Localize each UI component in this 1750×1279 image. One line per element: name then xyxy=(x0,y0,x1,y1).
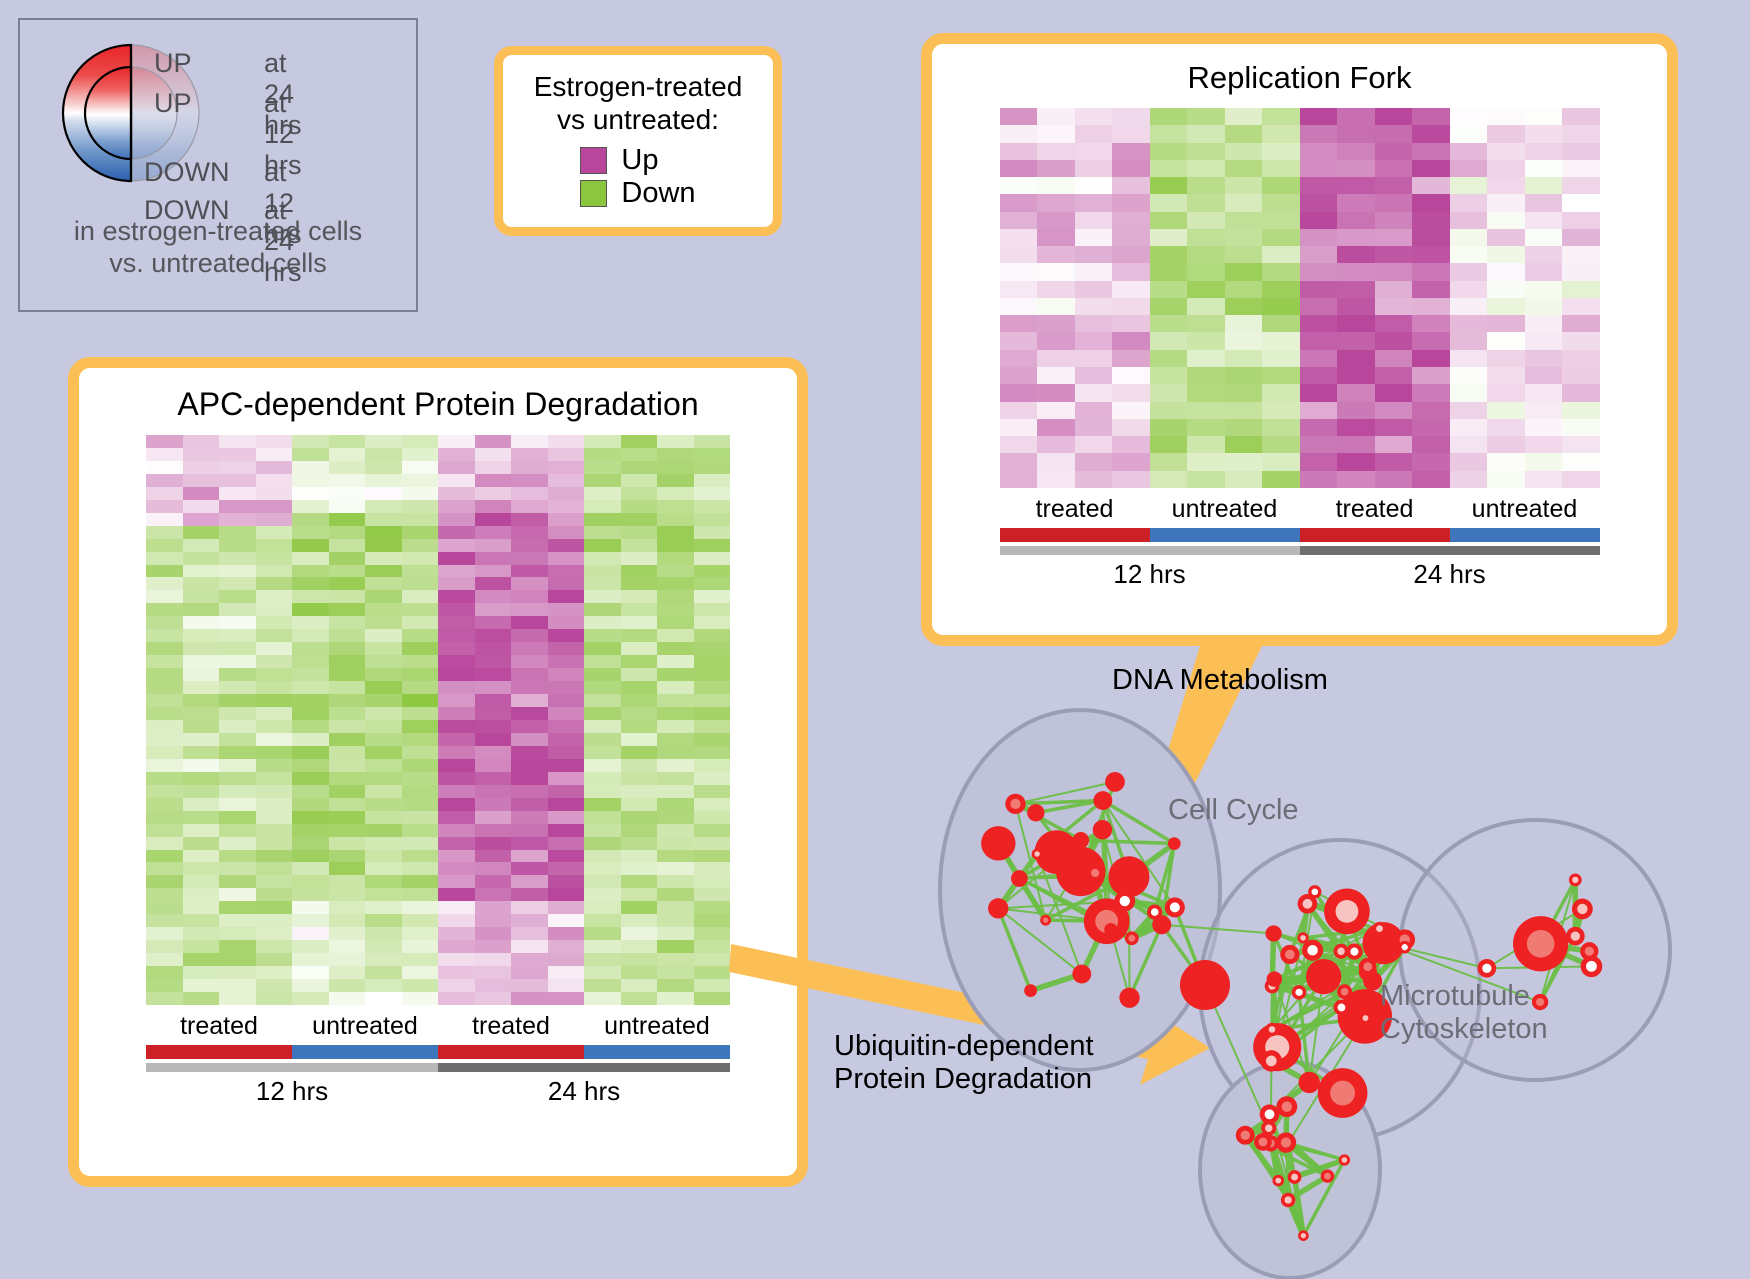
heatmap-cell xyxy=(146,953,183,966)
heatmap-cell xyxy=(438,720,475,733)
heatmap-cell xyxy=(1450,402,1488,419)
network-node[interactable] xyxy=(1104,923,1117,936)
condition-segment xyxy=(584,1045,730,1059)
network-node[interactable] xyxy=(1478,959,1497,978)
heatmap-cell xyxy=(1187,229,1225,246)
heatmap-cell xyxy=(1300,315,1338,332)
network-node[interactable] xyxy=(1359,958,1377,976)
heatmap-cell xyxy=(365,785,402,798)
heatmap-cell xyxy=(1112,315,1150,332)
network-node[interactable] xyxy=(1011,870,1028,887)
heatmap-cell xyxy=(256,824,293,837)
heatmap-cell xyxy=(329,746,366,759)
heatmap-cell xyxy=(292,979,329,992)
heatmap-cell xyxy=(146,888,183,901)
heatmap-cell xyxy=(584,798,621,811)
heatmap-cell xyxy=(1487,315,1525,332)
network-node[interactable] xyxy=(1373,922,1387,936)
heatmap-cell xyxy=(1300,263,1338,280)
network-node[interactable] xyxy=(1292,985,1306,999)
heatmap-cell xyxy=(365,811,402,824)
heatmap-cell xyxy=(548,616,585,629)
heatmap-cell xyxy=(292,565,329,578)
heatmap-cell xyxy=(402,914,439,927)
heatmap-cell xyxy=(657,435,694,448)
network-node[interactable] xyxy=(1265,1023,1278,1036)
heatmap-cell xyxy=(1412,246,1450,263)
heatmap-cell xyxy=(1112,246,1150,263)
network-node[interactable] xyxy=(1265,925,1281,941)
heatmap-cell xyxy=(183,837,220,850)
heatmap-cell xyxy=(256,526,293,539)
network-node[interactable] xyxy=(1147,904,1162,919)
heatmap-cell xyxy=(1450,108,1488,125)
heatmap-cell xyxy=(402,565,439,578)
heatmap-cell xyxy=(475,552,512,565)
cluster-label-ubiquitin-degradation: Ubiquitin-dependent Protein Degradation xyxy=(834,1030,1094,1097)
heatmap-cell xyxy=(1450,160,1488,177)
heatmap-cell xyxy=(584,616,621,629)
heatmap-cell xyxy=(292,824,329,837)
heatmap-cell xyxy=(621,474,658,487)
heatmap-cell xyxy=(329,552,366,565)
heatmap-cell xyxy=(621,655,658,668)
node-inner-fill xyxy=(1120,896,1130,906)
heatmap-cell xyxy=(584,927,621,940)
heatmap-cell xyxy=(1037,315,1075,332)
heatmap-cell xyxy=(475,616,512,629)
time-group-label: 24 hrs xyxy=(1300,559,1600,590)
network-node[interactable] xyxy=(1572,899,1593,920)
heatmap-cell xyxy=(584,785,621,798)
heatmap-cell xyxy=(183,733,220,746)
network-node[interactable] xyxy=(1093,791,1112,810)
heatmap-cell xyxy=(183,914,220,927)
heatmap-cell xyxy=(402,642,439,655)
heatmap-cell xyxy=(1262,332,1300,349)
heatmap-cell xyxy=(548,448,585,461)
heatmap-cell xyxy=(402,500,439,513)
heatmap-cell xyxy=(402,694,439,707)
heatmap-cell xyxy=(694,539,731,552)
heatmap-cell xyxy=(183,759,220,772)
network-node[interactable] xyxy=(1180,960,1230,1010)
heatmap-cell xyxy=(1037,246,1075,263)
heatmap-cell xyxy=(183,694,220,707)
heatmap-cell xyxy=(548,694,585,707)
node-outer-ring xyxy=(1093,820,1112,839)
heatmap-cell xyxy=(694,616,731,629)
heatmap-cell xyxy=(146,785,183,798)
heatmap-cell xyxy=(657,953,694,966)
heatmap-cell xyxy=(1187,471,1225,488)
network-node[interactable] xyxy=(1298,894,1318,914)
heatmap-cell xyxy=(219,953,256,966)
heatmap-cell xyxy=(438,526,475,539)
heatmap-cell xyxy=(365,500,402,513)
network-node[interactable] xyxy=(1105,772,1125,792)
heatmap-cell xyxy=(1187,384,1225,401)
condition-segment xyxy=(1000,528,1150,542)
heatmap-cell xyxy=(365,720,402,733)
heatmap-cell xyxy=(1300,212,1338,229)
heatmap-cell xyxy=(584,707,621,720)
heatmap-cell xyxy=(548,590,585,603)
heatmap-cell xyxy=(146,603,183,616)
heatmap-cell xyxy=(365,979,402,992)
heatmap-cell xyxy=(1525,471,1563,488)
heatmap-cell xyxy=(1225,419,1263,436)
heatmap-cell xyxy=(584,590,621,603)
network-node[interactable] xyxy=(1276,1132,1296,1152)
network-node[interactable] xyxy=(1398,941,1411,954)
network-node[interactable] xyxy=(1236,1126,1255,1145)
heatmap-cell xyxy=(1375,471,1413,488)
heatmap-cell xyxy=(256,940,293,953)
network-node[interactable] xyxy=(1119,988,1139,1008)
heatmap-cell xyxy=(1150,315,1188,332)
heatmap-cell xyxy=(1187,125,1225,142)
heatmap-cell xyxy=(183,927,220,940)
heatmap-cell xyxy=(694,590,731,603)
heatmap-cell xyxy=(292,513,329,526)
network-node[interactable] xyxy=(1324,889,1370,935)
heatmap-cell xyxy=(657,603,694,616)
network-node[interactable] xyxy=(1276,1096,1297,1117)
network-node[interactable] xyxy=(1566,927,1585,946)
network-node[interactable] xyxy=(1337,984,1352,999)
network-node[interactable] xyxy=(1360,1012,1372,1024)
heatmap-cell xyxy=(1562,350,1600,367)
heatmap-cell xyxy=(1450,263,1488,280)
heatmap-cell xyxy=(1450,367,1488,384)
network-node[interactable] xyxy=(1299,1072,1320,1093)
heatmap-cell xyxy=(365,668,402,681)
heatmap-cell xyxy=(1525,350,1563,367)
heatmap-cell xyxy=(219,837,256,850)
heatmap-cell xyxy=(402,577,439,590)
heatmap-cell xyxy=(1412,402,1450,419)
heatmap-cell xyxy=(438,940,475,953)
heatmap-cell xyxy=(1337,298,1375,315)
heatmap-cell xyxy=(1150,350,1188,367)
heatmap-cell xyxy=(548,953,585,966)
heatmap-cell xyxy=(183,448,220,461)
heatmap-cell xyxy=(511,901,548,914)
heatmap-cell xyxy=(1450,332,1488,349)
network-node[interactable] xyxy=(1072,965,1091,984)
heatmap-cell xyxy=(621,811,658,824)
heatmap-cell xyxy=(621,888,658,901)
heatmap-cell xyxy=(402,927,439,940)
heatmap-cell xyxy=(548,888,585,901)
network-node[interactable] xyxy=(988,898,1008,918)
network-node[interactable] xyxy=(1168,837,1181,850)
heatmap-cell xyxy=(402,733,439,746)
heatmap-cell xyxy=(511,603,548,616)
heatmap-cell xyxy=(292,875,329,888)
heatmap-cell xyxy=(1525,108,1563,125)
heatmap-cell xyxy=(1375,246,1413,263)
heatmap-cell xyxy=(657,901,694,914)
network-node[interactable] xyxy=(1024,984,1037,997)
network-node[interactable] xyxy=(1165,897,1185,917)
heatmap-cell xyxy=(402,590,439,603)
heatmap-cell xyxy=(1075,246,1113,263)
heatmap-cell xyxy=(1412,471,1450,488)
network-node[interactable] xyxy=(1306,959,1341,994)
heatmap-cell xyxy=(511,940,548,953)
heatmap-cell xyxy=(657,655,694,668)
heatmap-cell xyxy=(1525,177,1563,194)
heatmap-cell xyxy=(657,539,694,552)
heatmap-cell xyxy=(475,746,512,759)
heatmap-cell xyxy=(1487,229,1525,246)
column-group-label: treated xyxy=(1300,495,1450,524)
heatmap-cell xyxy=(256,707,293,720)
heatmap-cell xyxy=(511,862,548,875)
heatmap-cell xyxy=(183,500,220,513)
heatmap-cell xyxy=(329,603,366,616)
heatmap-cell xyxy=(657,577,694,590)
heatmap-cell xyxy=(511,552,548,565)
heatmap-cell xyxy=(1187,160,1225,177)
node-inner-fill xyxy=(1281,1137,1291,1147)
network-node[interactable] xyxy=(981,826,1015,860)
heatmap-cell xyxy=(1300,229,1338,246)
heatmap-cell xyxy=(1337,160,1375,177)
heatmap-cell xyxy=(438,629,475,642)
heatmap-cell xyxy=(1000,125,1038,142)
heatmap-cell xyxy=(219,862,256,875)
heatmap-cell xyxy=(621,798,658,811)
heatmap-cell xyxy=(1037,125,1075,142)
heatmap-cell xyxy=(475,590,512,603)
heatmap-cell xyxy=(438,461,475,474)
heatmap-cell xyxy=(402,539,439,552)
up-label: Up xyxy=(621,146,658,175)
heatmap-cell xyxy=(1037,471,1075,488)
condition-bar-replication xyxy=(1000,528,1600,542)
heatmap-cell xyxy=(365,966,402,979)
heatmap-cell xyxy=(365,590,402,603)
heatmap-cell xyxy=(256,435,293,448)
heatmap-cell xyxy=(146,811,183,824)
heatmap-cell xyxy=(402,487,439,500)
node-inner-fill xyxy=(1402,944,1408,950)
heatmap-cell xyxy=(1150,453,1188,470)
heatmap-cell xyxy=(657,448,694,461)
heatmap-cell xyxy=(1525,384,1563,401)
network-node[interactable] xyxy=(1267,971,1283,987)
heatmap-cell xyxy=(402,474,439,487)
heatmap-cell xyxy=(365,824,402,837)
heatmap-cell xyxy=(1337,350,1375,367)
heatmap-cell xyxy=(1487,246,1525,263)
heatmap-cell xyxy=(584,642,621,655)
network-node[interactable] xyxy=(1339,1154,1350,1165)
heatmap-cell xyxy=(1450,229,1488,246)
column-labels-apc: treateduntreatedtreateduntreated xyxy=(146,1012,730,1041)
heatmap-cell xyxy=(1412,332,1450,349)
heatmap-cell xyxy=(365,694,402,707)
node-inner-fill xyxy=(1282,1101,1292,1111)
heatmap-cell xyxy=(657,798,694,811)
heatmap-cell xyxy=(694,785,731,798)
heatmap-cell xyxy=(475,811,512,824)
heatmap-cell xyxy=(256,875,293,888)
network-svg xyxy=(880,640,1750,1279)
heatmap-cell xyxy=(584,837,621,850)
heatmap-cell xyxy=(621,629,658,642)
heatmap-cell xyxy=(1375,160,1413,177)
heatmap-cell xyxy=(365,888,402,901)
heatmap-cell xyxy=(292,888,329,901)
network-node[interactable] xyxy=(1513,916,1568,971)
heatmap-cell xyxy=(438,616,475,629)
heatmap-cell xyxy=(657,707,694,720)
network-node[interactable] xyxy=(1254,1133,1272,1151)
heatmap-cell xyxy=(1000,350,1038,367)
network-node[interactable] xyxy=(1346,943,1362,959)
heatmap-cell xyxy=(292,577,329,590)
node-outer-ring xyxy=(1027,804,1044,821)
network-node[interactable] xyxy=(1297,932,1308,943)
heatmap-cell xyxy=(1337,453,1375,470)
heatmap-cell xyxy=(219,901,256,914)
heatmap-cell xyxy=(694,927,731,940)
network-node[interactable] xyxy=(1108,856,1149,897)
heatmap-cell xyxy=(438,668,475,681)
heatmap-cell xyxy=(1375,402,1413,419)
heatmap-cell xyxy=(329,940,366,953)
network-node[interactable] xyxy=(1318,1068,1368,1118)
heatmap-cell xyxy=(694,862,731,875)
heatmap-cell xyxy=(511,565,548,578)
heatmap-cell xyxy=(146,513,183,526)
heatmap-cell xyxy=(1375,298,1413,315)
heatmap-cell xyxy=(694,979,731,992)
heatmap-cell xyxy=(329,474,366,487)
heatmap-cell xyxy=(1262,212,1300,229)
network-node[interactable] xyxy=(1272,1175,1284,1187)
heatmap-cell xyxy=(146,901,183,914)
heatmap-cell xyxy=(1450,194,1488,211)
heatmap-cell xyxy=(1037,402,1075,419)
heatmap-cell xyxy=(1150,125,1188,142)
heatmap-cell xyxy=(475,888,512,901)
heatmap-cell xyxy=(548,681,585,694)
network-node[interactable] xyxy=(1032,848,1043,859)
network-node[interactable] xyxy=(1280,945,1299,964)
time-group-label: 12 hrs xyxy=(146,1076,438,1107)
condition-segment xyxy=(1300,528,1450,542)
heatmap-cell xyxy=(365,448,402,461)
heatmap-cell xyxy=(219,474,256,487)
heatmap-cell xyxy=(657,979,694,992)
heatmap-cell xyxy=(146,720,183,733)
network-node[interactable] xyxy=(1005,794,1025,814)
heatmap-cell xyxy=(1262,229,1300,246)
heatmap-cell xyxy=(1150,402,1188,419)
heatmap-cell xyxy=(1037,194,1075,211)
heatmap-cell xyxy=(329,577,366,590)
heatmap-cell xyxy=(1187,367,1225,384)
heatmap-cell xyxy=(657,746,694,759)
node-inner-fill xyxy=(1303,899,1313,909)
heatmap-cell xyxy=(1562,160,1600,177)
network-node[interactable] xyxy=(1288,1170,1302,1184)
network-node[interactable] xyxy=(1580,942,1598,960)
heatmap-cell xyxy=(475,487,512,500)
network-node[interactable] xyxy=(1298,1230,1309,1241)
heatmap-cell xyxy=(1075,315,1113,332)
heatmap-cell xyxy=(621,720,658,733)
heatmap-cell xyxy=(292,694,329,707)
heatmap-cell xyxy=(475,565,512,578)
network-node[interactable] xyxy=(1114,891,1135,912)
heatmap-cell xyxy=(1075,229,1113,246)
heatmap-cell xyxy=(621,850,658,863)
heatmap-cell xyxy=(1037,453,1075,470)
heatmap-cell xyxy=(219,500,256,513)
heatmap-cell xyxy=(183,798,220,811)
network-node[interactable] xyxy=(1125,931,1139,945)
heatmap-cell xyxy=(438,979,475,992)
network-node[interactable] xyxy=(1334,944,1349,959)
heatmap-cell xyxy=(694,500,731,513)
heatmap-cell xyxy=(1262,263,1300,280)
network-node[interactable] xyxy=(1569,874,1582,887)
heatmap-cell xyxy=(329,616,366,629)
network-node[interactable] xyxy=(1093,820,1112,839)
heatmap-cell xyxy=(1187,108,1225,125)
heatmap-cell xyxy=(365,565,402,578)
network-node[interactable] xyxy=(1281,1193,1296,1208)
network-node[interactable] xyxy=(1087,865,1103,881)
heatmap-cell xyxy=(329,629,366,642)
heatmap-cell xyxy=(183,642,220,655)
heatmap-cell xyxy=(584,875,621,888)
heatmap-cell xyxy=(694,448,731,461)
network-node[interactable] xyxy=(1040,915,1051,926)
network-node[interactable] xyxy=(1321,1169,1334,1182)
heatmap-cell xyxy=(438,642,475,655)
heatmap-cell xyxy=(694,759,731,772)
heatmap-cell xyxy=(365,487,402,500)
heatmap-cell xyxy=(511,837,548,850)
heatmap-cell xyxy=(584,850,621,863)
heatmap-cell xyxy=(1525,298,1563,315)
heatmap-cell xyxy=(1562,177,1600,194)
heatmap-cell xyxy=(438,603,475,616)
heatmap-cell xyxy=(1000,177,1038,194)
heatmap-cell xyxy=(365,901,402,914)
network-node[interactable] xyxy=(1027,804,1044,821)
heatmap-cell xyxy=(475,927,512,940)
network-node[interactable] xyxy=(1073,832,1089,848)
network-node[interactable] xyxy=(1334,1000,1350,1016)
heatmap-cell xyxy=(694,681,731,694)
heatmap-cell xyxy=(548,772,585,785)
heatmap-cell xyxy=(329,953,366,966)
heatmap-cell xyxy=(402,811,439,824)
network-node[interactable] xyxy=(1261,1050,1282,1071)
heatmap-cell xyxy=(292,798,329,811)
heatmap-cell xyxy=(438,914,475,927)
heatmap-cell xyxy=(292,811,329,824)
heatmap-cell xyxy=(511,448,548,461)
